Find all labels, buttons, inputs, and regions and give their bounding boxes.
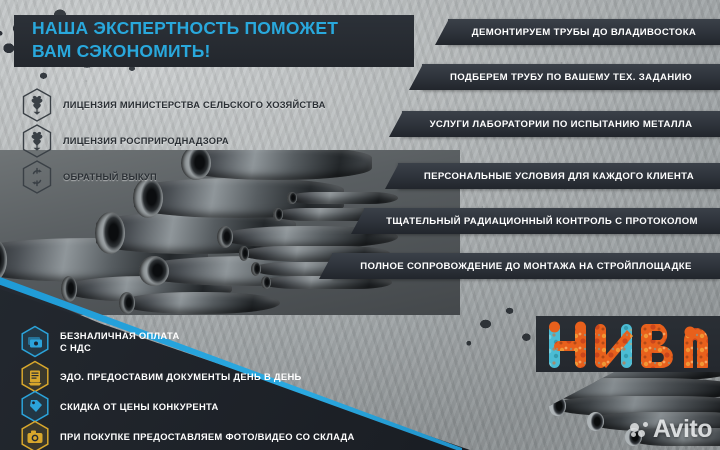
service-bar: ПОЛНОЕ СОПРОВОЖДЕНИЕ ДО МОНТАЖА НА СТРОЙ…: [332, 253, 720, 279]
headline-line-2: ВАМ СЭКОНОМИТЬ!: [32, 40, 412, 63]
benefit-item-cashless-payment: БЕЗНАЛИЧНАЯ ОПЛАТА С НДС: [20, 325, 180, 359]
pipe: [120, 292, 280, 314]
benefit-item-label: ПРИ ПОКУПКЕ ПРЕДОСТАВЛЯЕМ ФОТО/ВИДЕО СО …: [60, 431, 355, 443]
service-bar-label: ПОДБЕРЕМ ТРУБУ ПО ВАШЕМУ ТЕХ. ЗАДАНИЮ: [438, 72, 704, 83]
camera-icon: [20, 420, 50, 450]
service-bar-label: ДЕМОНТИРУЕМ ТРУБЫ ДО ВЛАДИВОСТОКА: [460, 27, 708, 38]
cash-payment-icon: [20, 325, 50, 359]
license-item-label: ЛИЦЕНЗИЯ МИНИСТЕРСТВА СЕЛЬСКОГО ХОЗЯЙСТВ…: [63, 100, 326, 110]
license-item-rosprirodnadzor: ЛИЦЕНЗИЯ РОСПРИРОДНАДЗОРА: [22, 124, 229, 158]
service-bar: ПОДБЕРЕМ ТРУБУ ПО ВАШЕМУ ТЕХ. ЗАДАНИЮ: [422, 64, 720, 90]
benefit-line-2: С НДС: [60, 342, 91, 353]
service-bar: УСЛУГИ ЛАБОРАТОРИИ ПО ИСПЫТАНИЮ МЕТАЛЛА: [402, 111, 720, 137]
benefit-line-1: БЕЗНАЛИЧНАЯ ОПЛАТА: [60, 330, 180, 341]
double-headed-eagle-icon: [22, 124, 52, 158]
benefit-item-competitor-discount: СКИДКА ОТ ЦЕНЫ КОНКУРЕНТА: [20, 390, 219, 424]
brand-logo: [545, 318, 715, 374]
benefit-item-edo-documents: ЭДО. ПРЕДОСТАВИМ ДОКУМЕНТЫ ДЕНЬ В ДЕНЬ: [20, 360, 302, 394]
license-item-buyback: ОБРАТНЫЙ ВЫКУП: [22, 160, 157, 194]
license-item-agriculture-ministry: ЛИЦЕНЗИЯ МИНИСТЕРСТВА СЕЛЬСКОГО ХОЗЯЙСТВ…: [22, 88, 326, 122]
service-bar-label: ПЕРСОНАЛЬНЫЕ УСЛОВИЯ ДЛЯ КАЖДОГО КЛИЕНТА: [412, 171, 706, 182]
page-title: НАША ЭКСПЕРТНОСТЬ ПОМОЖЕТ ВАМ СЭКОНОМИТЬ…: [32, 17, 412, 64]
avito-dots-icon: [630, 420, 649, 439]
benefit-item-photo-video: ПРИ ПОКУПКЕ ПРЕДОСТАВЛЯЕМ ФОТО/ВИДЕО СО …: [20, 420, 355, 450]
headline-line-1: НАША ЭКСПЕРТНОСТЬ ПОМОЖЕТ: [32, 17, 412, 40]
service-bar: ДЕМОНТИРУЕМ ТРУБЫ ДО ВЛАДИВОСТОКА: [448, 19, 720, 45]
benefit-item-label: СКИДКА ОТ ЦЕНЫ КОНКУРЕНТА: [60, 401, 219, 413]
double-headed-eagle-icon: [22, 88, 52, 122]
advertisement-banner: НАША ЭКСПЕРТНОСТЬ ПОМОЖЕТ ВАМ СЭКОНОМИТЬ…: [0, 0, 720, 450]
service-bar: ТЩАТЕЛЬНЫЙ РАДИАЦИОННЫЙ КОНТРОЛЬ С ПРОТО…: [364, 208, 720, 234]
pipe: [288, 192, 398, 204]
license-item-label: ЛИЦЕНЗИЯ РОСПРИРОДНАДЗОРА: [63, 136, 229, 146]
avito-watermark: Avito: [630, 417, 712, 442]
price-tag-icon: [20, 390, 50, 424]
avito-watermark-label: Avito: [653, 417, 712, 442]
service-bar-label: ПОЛНОЕ СОПРОВОЖДЕНИЕ ДО МОНТАЖА НА СТРОЙ…: [348, 261, 703, 272]
buyback-arrows-icon: [22, 160, 52, 194]
document-icon: [20, 360, 50, 394]
brand-logo-graphic: [545, 318, 715, 374]
service-bar-label: УСЛУГИ ЛАБОРАТОРИИ ПО ИСПЫТАНИЮ МЕТАЛЛА: [418, 119, 705, 130]
license-item-label: ОБРАТНЫЙ ВЫКУП: [63, 172, 157, 182]
service-bar: ПЕРСОНАЛЬНЫЕ УСЛОВИЯ ДЛЯ КАЖДОГО КЛИЕНТА: [398, 163, 720, 189]
service-bar-label: ТЩАТЕЛЬНЫЙ РАДИАЦИОННЫЙ КОНТРОЛЬ С ПРОТО…: [374, 216, 710, 227]
benefit-item-label: ЭДО. ПРЕДОСТАВИМ ДОКУМЕНТЫ ДЕНЬ В ДЕНЬ: [60, 371, 302, 383]
benefit-item-label: БЕЗНАЛИЧНАЯ ОПЛАТА С НДС: [60, 330, 180, 354]
